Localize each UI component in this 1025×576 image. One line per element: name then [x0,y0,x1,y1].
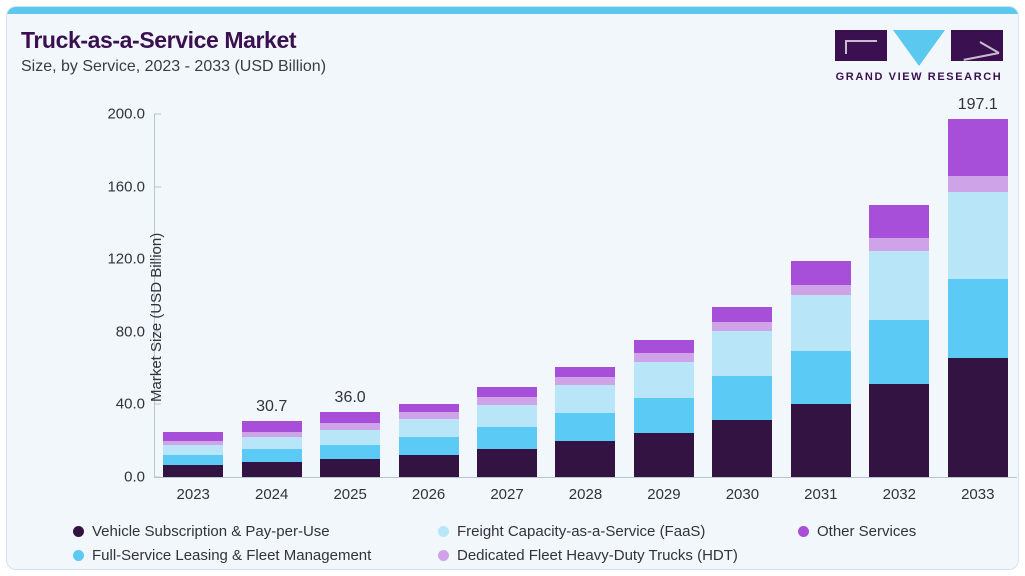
bar-stack[interactable] [634,340,694,477]
bar-segment-series-0[interactable] [634,433,694,477]
bar-segment-series-2[interactable] [869,251,929,320]
legend-item[interactable]: Other Services [798,523,1003,540]
bar-segment-series-4[interactable] [399,404,459,412]
bar-segment-series-0[interactable] [242,462,302,477]
bar-segment-series-3[interactable] [477,397,537,405]
bar-segment-series-1[interactable] [634,398,694,433]
bar-group-2025[interactable]: 36.02025 [311,114,389,477]
x-axis-tick-label: 2024 [255,486,288,503]
bar-segment-series-0[interactable] [399,455,459,477]
page-subtitle: Size, by Service, 2023 - 2033 (USD Billi… [21,58,326,76]
chart-card: Truck-as-a-Service Market Size, by Servi… [6,6,1019,570]
bar-segment-series-1[interactable] [320,445,380,460]
bar-stack[interactable] [242,421,302,477]
bar-segment-series-2[interactable] [948,192,1008,279]
y-axis-tick-label: 40.0 [6,396,154,413]
bar-segment-series-3[interactable] [555,377,615,385]
logo-text: GRAND VIEW RESEARCH [835,71,1003,83]
legend-label: Other Services [817,523,916,540]
legend-label: Full-Service Leasing & Fleet Management [92,547,371,564]
bar-segment-series-4[interactable] [242,421,302,432]
bar-segment-series-0[interactable] [791,404,851,477]
legend-swatch-icon [438,526,449,537]
page-title: Truck-as-a-Service Market [21,27,326,54]
bar-segment-series-4[interactable] [477,387,537,397]
legend-label: Dedicated Fleet Heavy-Duty Trucks (HDT) [457,547,738,564]
bar-segment-series-4[interactable] [948,119,1008,176]
accent-top-bar [7,7,1018,14]
chart-header: Truck-as-a-Service Market Size, by Servi… [21,27,326,76]
bar-stack[interactable] [869,205,929,477]
bar-segment-series-4[interactable] [320,412,380,424]
legend-swatch-icon [438,550,449,561]
legend-item[interactable]: Freight Capacity-as-a-Service (FaaS) [438,523,798,540]
logo-marks [835,30,1003,66]
legend-swatch-icon [798,526,809,537]
bar-group-2030[interactable]: 2030 [703,114,781,477]
x-axis-tick-label: 2032 [883,486,916,503]
bar-group-2029[interactable]: 2029 [625,114,703,477]
legend-label: Freight Capacity-as-a-Service (FaaS) [457,523,705,540]
bar-stack[interactable] [163,432,223,477]
bar-segment-series-4[interactable] [555,367,615,376]
bar-group-2028[interactable]: 2028 [546,114,624,477]
bar-segment-series-2[interactable] [712,331,772,376]
bar-segment-series-1[interactable] [791,351,851,404]
grand-view-research-logo: GRAND VIEW RESEARCH [835,30,1003,83]
bar-segment-series-0[interactable] [869,384,929,477]
bar-group-2023[interactable]: 2023 [154,114,232,477]
bar-segment-series-4[interactable] [791,261,851,286]
bar-segment-series-4[interactable] [869,205,929,238]
y-axis-tick-label: 0.0 [6,469,154,486]
bar-segment-series-2[interactable] [163,445,223,454]
bar-group-2032[interactable]: 2032 [860,114,938,477]
bar-segment-series-2[interactable] [477,405,537,428]
bar-segment-series-0[interactable] [555,441,615,477]
logo-rect-left-icon [835,30,887,61]
bar-segment-series-1[interactable] [555,413,615,441]
bar-segment-series-1[interactable] [712,376,772,420]
bar-group-2024[interactable]: 30.72024 [232,114,310,477]
legend-item[interactable]: Dedicated Fleet Heavy-Duty Trucks (HDT) [438,547,798,564]
bar-segment-series-0[interactable] [320,459,380,477]
bar-segment-series-1[interactable] [242,449,302,462]
logo-rect-right-icon [951,30,1003,61]
bar-segment-series-4[interactable] [163,432,223,441]
bar-stack[interactable] [948,119,1008,477]
x-axis-tick-label: 2023 [177,486,210,503]
y-axis-tick-label: 120.0 [6,251,154,268]
bar-stack[interactable] [555,367,615,477]
bar-group-2031[interactable]: 2031 [782,114,860,477]
bar-segment-series-1[interactable] [477,427,537,449]
bar-segment-series-2[interactable] [399,419,459,437]
bar-segment-series-4[interactable] [634,340,694,353]
x-axis-tick-label: 2031 [804,486,837,503]
bar-segment-series-3[interactable] [948,176,1008,192]
bar-total-label: 197.1 [958,96,998,114]
x-axis-tick-label: 2026 [412,486,445,503]
bar-segment-series-0[interactable] [948,358,1008,477]
bar-stack[interactable] [320,412,380,477]
bar-stack[interactable] [791,261,851,477]
bar-segment-series-3[interactable] [791,285,851,295]
bar-series-group: 202330.7202436.0202520262027202820292030… [154,114,1017,477]
x-axis-tick-label: 2028 [569,486,602,503]
bar-group-2027[interactable]: 2027 [468,114,546,477]
y-axis-tick-label: 200.0 [6,106,154,123]
bar-stack[interactable] [477,387,537,477]
bar-segment-series-1[interactable] [399,437,459,455]
x-axis-tick-label: 2030 [726,486,759,503]
bar-segment-series-1[interactable] [948,279,1008,358]
bar-total-label: 30.7 [256,398,287,416]
bar-segment-series-3[interactable] [399,412,459,419]
bar-segment-series-1[interactable] [163,455,223,465]
legend-item[interactable]: Vehicle Subscription & Pay-per-Use [73,523,438,540]
x-axis-tick-label: 2027 [490,486,523,503]
bar-segment-series-1[interactable] [869,320,929,384]
chart-legend: Vehicle Subscription & Pay-per-UseFreigh… [73,519,1003,567]
legend-swatch-icon [73,526,84,537]
bar-stack[interactable] [712,307,772,477]
x-axis-tick-label: 2029 [647,486,680,503]
logo-triangle-icon [893,30,945,66]
legend-swatch-icon [73,550,84,561]
bar-group-2033[interactable]: 197.12033 [939,114,1017,477]
bar-total-label: 36.0 [335,389,366,407]
bar-stack[interactable] [399,404,459,477]
bar-segment-series-0[interactable] [163,465,223,477]
bar-segment-series-2[interactable] [791,295,851,351]
x-axis-line [154,477,1017,478]
bar-segment-series-2[interactable] [320,430,380,445]
legend-label: Vehicle Subscription & Pay-per-Use [92,523,330,540]
bar-segment-series-3[interactable] [712,322,772,331]
x-axis-tick-label: 2025 [333,486,366,503]
bar-segment-series-0[interactable] [712,420,772,477]
y-axis-tick-label: 160.0 [6,178,154,195]
x-axis-tick-label: 2033 [961,486,994,503]
bar-segment-series-3[interactable] [869,238,929,251]
bar-segment-series-2[interactable] [555,385,615,414]
bar-group-2026[interactable]: 2026 [389,114,467,477]
bar-segment-series-2[interactable] [242,437,302,449]
bar-segment-series-4[interactable] [712,307,772,322]
bar-segment-series-2[interactable] [634,362,694,398]
legend-item[interactable]: Full-Service Leasing & Fleet Management [73,547,438,564]
bar-segment-series-0[interactable] [477,449,537,477]
y-axis-tick-label: 80.0 [6,323,154,340]
bar-segment-series-3[interactable] [634,353,694,362]
